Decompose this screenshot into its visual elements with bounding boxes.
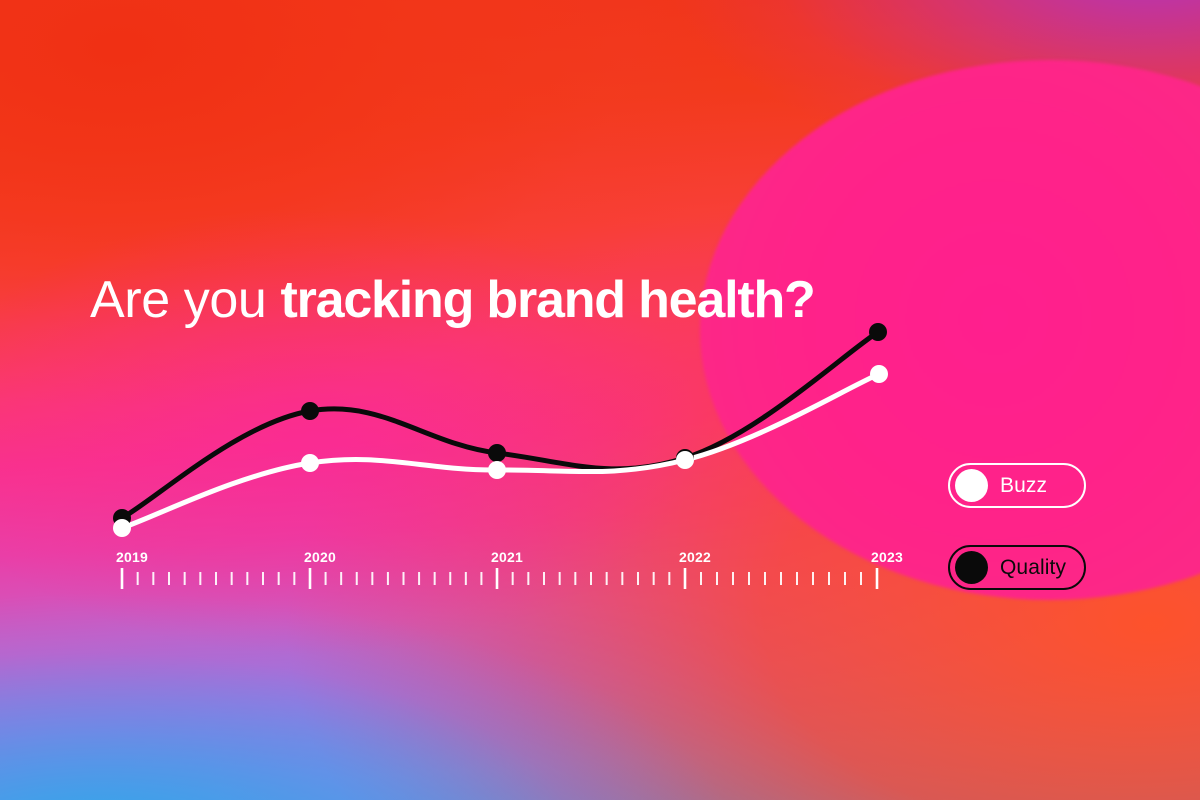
background-blue-bottom-glow — [0, 0, 1200, 800]
headline-bold-text: tracking brand health? — [280, 271, 814, 329]
legend-dot-buzz-icon — [955, 469, 988, 502]
page-title: Are you tracking brand health? — [90, 273, 815, 328]
legend-item-buzz[interactable]: Buzz — [948, 463, 1086, 508]
legend-dot-quality-icon — [955, 551, 988, 584]
legend-label-quality: Quality — [1000, 556, 1066, 580]
chart-legend: Buzz Quality — [948, 463, 1086, 590]
headline-light-text: Are you — [90, 271, 280, 329]
legend-label-buzz: Buzz — [1000, 474, 1047, 498]
brand-health-graphic: Are you tracking brand health? 201920202… — [0, 0, 1200, 800]
legend-item-quality[interactable]: Quality — [948, 545, 1086, 590]
